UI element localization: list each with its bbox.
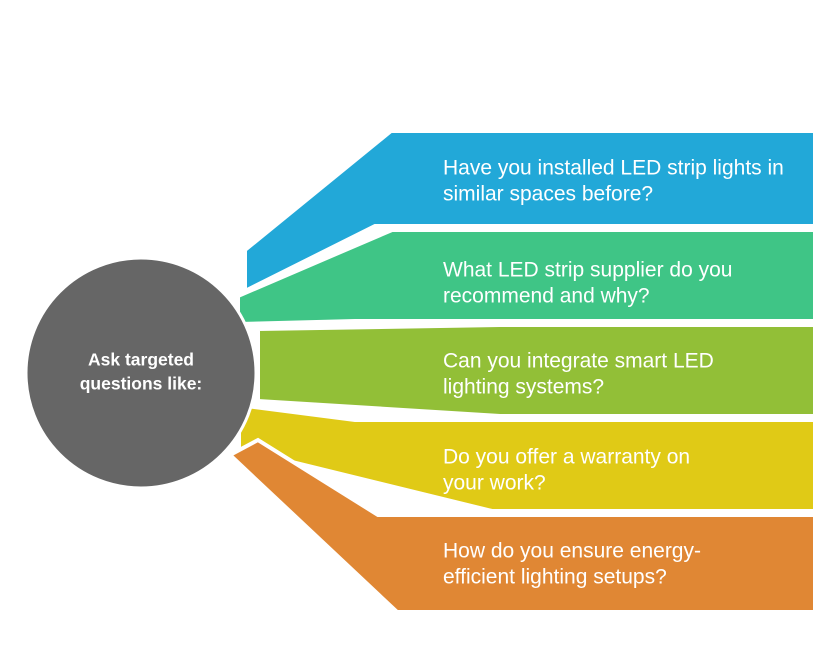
band-label-3-line1: Can you integrate smart LED [443,350,714,373]
hub-label-line2: questions like: [80,374,203,394]
band-label-2-line2: recommend and why? [443,285,650,308]
band-label-4-line2: your work? [443,472,546,495]
hub-group[interactable]: Ask targeted questions like: [26,258,256,488]
infographic-root: Have you installed LED strip lights in s… [0,0,840,660]
band-label-1-line1: Have you installed LED strip lights in [443,157,784,180]
band-label-3-line2: lighting systems? [443,376,604,399]
band-label-2-line1: What LED strip supplier do you [443,259,732,282]
band-label-5-line2: efficient lighting setups? [443,566,667,589]
hub-label-line1: Ask targeted [88,350,194,370]
band-item-3[interactable]: Can you integrate smart LED lighting sys… [258,325,815,416]
band-label-4-line1: Do you offer a warranty on [443,446,690,469]
band-label-1-line2: similar spaces before? [443,183,653,206]
diagram-canvas: Have you installed LED strip lights in s… [0,0,840,660]
band-label-5-line1: How do you ensure energy- [443,540,701,563]
band-group: Have you installed LED strip lights in s… [230,131,815,612]
